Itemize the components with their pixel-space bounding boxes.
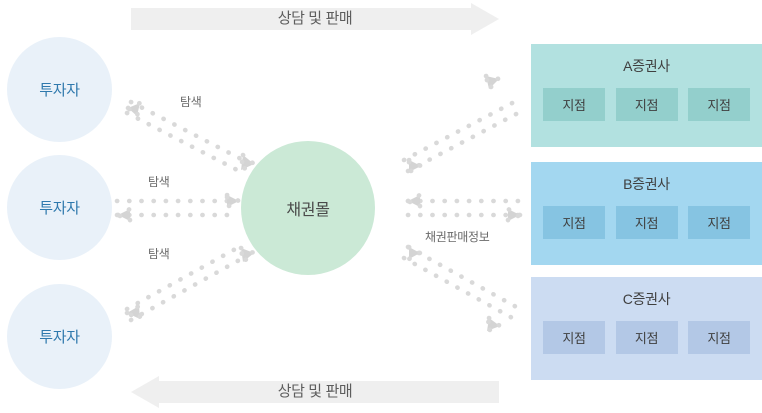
firm-c-branch-2[interactable]: 지점 (616, 321, 678, 354)
firm-b-branches: 지점 지점 지점 (543, 206, 750, 239)
firm-a-title: A증권사 (531, 56, 762, 76)
investor-node-3[interactable]: 투자자 (7, 284, 112, 389)
connector-label-search-top: 탐색 (180, 93, 201, 110)
investor-node-1[interactable]: 투자자 (7, 37, 112, 142)
firm-a-branch-1[interactable]: 지점 (543, 88, 605, 121)
dotted-line-left-top-b (127, 113, 239, 171)
firm-b-branch-1[interactable]: 지점 (543, 206, 605, 239)
arrowhead-right-bot-in (409, 247, 420, 259)
firm-b-title: B증권사 (531, 174, 762, 194)
arrowhead-left-top-out (241, 155, 254, 170)
arrowhead-left-bot-in (127, 306, 140, 319)
firm-card-c[interactable]: C증권사 지점 지점 지점 (531, 277, 762, 380)
investor-label-1: 투자자 (39, 79, 80, 100)
investor-node-2[interactable]: 투자자 (7, 155, 112, 260)
banner-bottom-consultation-sales: 상담 및 판매 (131, 381, 499, 403)
hub-node-bond-mall[interactable]: 채권몰 (241, 141, 375, 275)
firm-c-branches: 지점 지점 지점 (543, 321, 750, 354)
hub-label: 채권몰 (286, 196, 329, 220)
arrowhead-right-top-in (409, 160, 421, 172)
firm-a-branch-2[interactable]: 지점 (616, 88, 678, 121)
bond-mall-distribution-diagram: 상담 및 판매 상담 및 판매 투자자 투자자 투자자 채권몰 탐색 탐색 탐색… (0, 0, 762, 413)
arrowhead-right-mid-in (408, 195, 420, 207)
investor-label-3: 투자자 (39, 326, 80, 347)
arrowhead-left-mid-in (118, 209, 130, 221)
firm-card-b[interactable]: B증권사 지점 지점 지점 (531, 162, 762, 265)
connector-label-bond-sales-info: 채권판매정보 (425, 228, 489, 245)
dotted-line-right-bot-b (404, 258, 516, 320)
arrowhead-left-bot-out (241, 248, 254, 262)
dotted-line-right-top-b (408, 112, 520, 171)
banner-top-label: 상담 및 판매 (131, 8, 499, 30)
arrowhead-right-mid-out (508, 209, 520, 221)
firm-a-branches: 지점 지점 지점 (543, 88, 750, 121)
dotted-line-left-bot-a (131, 258, 243, 320)
connector-label-search-bottom: 탐색 (148, 245, 169, 262)
firm-a-branch-3[interactable]: 지점 (688, 88, 750, 121)
dotted-line-right-bot-a (408, 247, 520, 309)
connector-label-search-middle: 탐색 (148, 173, 169, 190)
firm-card-a[interactable]: A증권사 지점 지점 지점 (531, 44, 762, 147)
firm-b-branch-3[interactable]: 지점 (688, 206, 750, 239)
dotted-line-left-top-a (131, 102, 243, 160)
arrowhead-right-top-out (486, 76, 499, 89)
investor-label-2: 투자자 (39, 197, 80, 218)
arrowhead-right-bot-out (487, 318, 500, 331)
dotted-line-left-bot-b (127, 247, 239, 309)
firm-b-branch-2[interactable]: 지점 (616, 206, 678, 239)
firm-c-branch-3[interactable]: 지점 (688, 321, 750, 354)
arrowhead-left-mid-out (227, 195, 239, 207)
arrowhead-left-top-in (128, 103, 140, 116)
firm-c-title: C증권사 (531, 289, 762, 309)
banner-top-consultation-sales: 상담 및 판매 (131, 8, 499, 30)
banner-bottom-label: 상담 및 판매 (131, 381, 499, 403)
dotted-line-right-top-a (404, 101, 516, 160)
firm-c-branch-1[interactable]: 지점 (543, 321, 605, 354)
